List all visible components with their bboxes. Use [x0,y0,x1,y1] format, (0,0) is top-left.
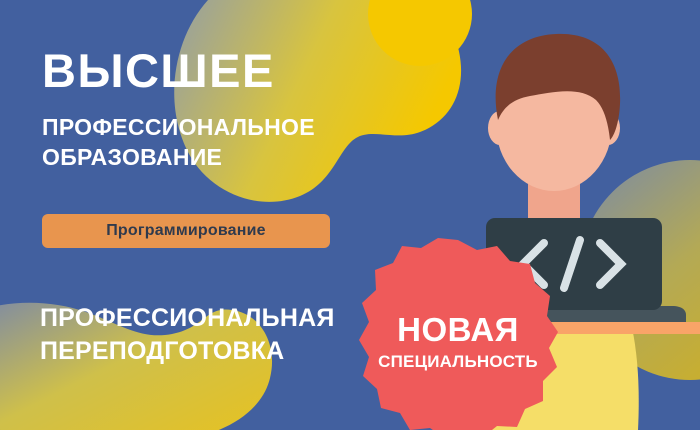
headline-subtitle: ПРОФЕССИОНАЛЬНОЕ ОБРАЗОВАНИЕ [42,113,372,172]
programming-tag-button[interactable]: Программирование [42,214,330,248]
new-specialty-badge: НОВАЯ СПЕЦИАЛЬНОСТЬ [355,238,561,430]
promo-banner: ВЫСШЕЕ ПРОФЕССИОНАЛЬНОЕ ОБРАЗОВАНИЕ Прог… [0,0,700,430]
retraining-block: ПРОФЕССИОНАЛЬНАЯ ПЕРЕПОДГОТОВКА [40,302,370,367]
ear-left [488,111,512,145]
badge-shape [355,238,561,430]
programming-tag-label: Программирование [106,222,266,240]
page-title: ВЫСШЕЕ [42,46,372,95]
headline-subtitle-line2: ОБРАЗОВАНИЕ [42,143,372,172]
headline-block: ВЫСШЕЕ ПРОФЕССИОНАЛЬНОЕ ОБРАЗОВАНИЕ [42,46,372,172]
headline-subtitle-line1: ПРОФЕССИОНАЛЬНОЕ [42,113,372,142]
retraining-line1: ПРОФЕССИОНАЛЬНАЯ [40,302,370,335]
retraining-line2: ПЕРЕПОДГОТОВКА [40,335,370,368]
